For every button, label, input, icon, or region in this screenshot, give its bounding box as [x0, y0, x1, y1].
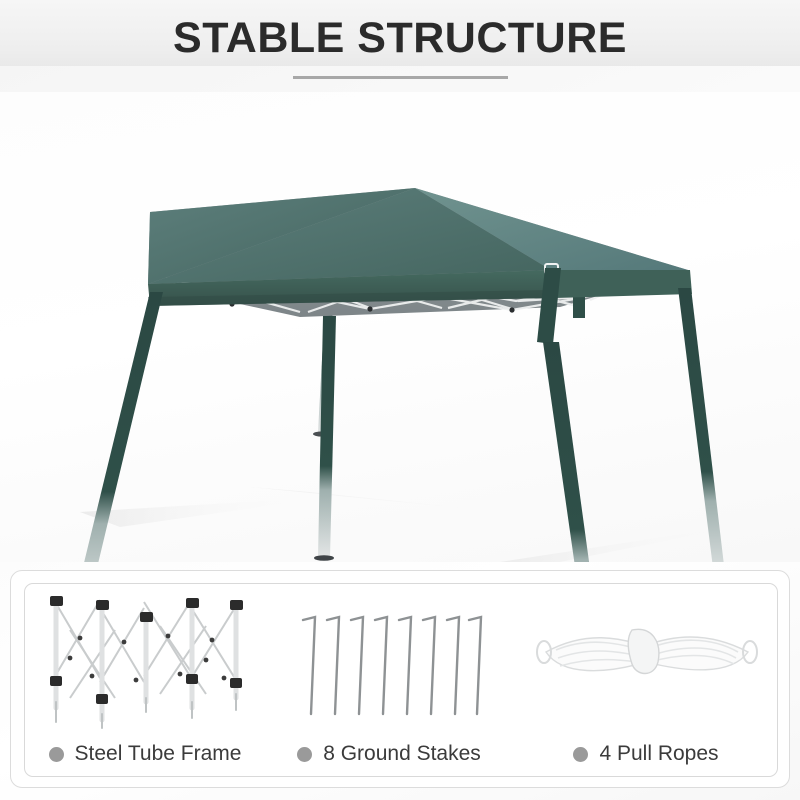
bullet-dot-icon — [49, 747, 64, 762]
accessories-list: Steel Tube Frame — [25, 584, 779, 778]
accessories-card: Steel Tube Frame — [10, 570, 790, 788]
pull-ropes-icon — [519, 590, 773, 730]
canopy-hero-illustration — [0, 92, 800, 562]
accessory-label-steel-tube-frame: Steel Tube Frame — [31, 742, 259, 766]
leg-rear-left — [314, 316, 336, 561]
product-feature-image: STABLE STRUCTURE — [0, 0, 800, 800]
bullet-dot-icon — [297, 747, 312, 762]
rope-bundle — [537, 629, 757, 673]
header: STABLE STRUCTURE — [0, 0, 800, 92]
ground-stakes-icon — [271, 590, 507, 730]
accessory-label-text: 8 Ground Stakes — [323, 742, 481, 766]
leg-front-right — [543, 342, 604, 562]
accessory-label-text: Steel Tube Frame — [75, 742, 242, 766]
bullet-dot-icon — [573, 747, 588, 762]
accessory-item-pull-ropes: 4 Pull Ropes — [519, 584, 773, 778]
accessories-inner-border: Steel Tube Frame — [24, 583, 778, 777]
page-title: STABLE STRUCTURE — [0, 14, 800, 62]
accessory-label-ground-stakes: 8 Ground Stakes — [271, 742, 507, 766]
accessory-item-steel-tube-frame: Steel Tube Frame — [31, 584, 259, 778]
leg-rear-right — [678, 288, 730, 562]
accessory-label-text: 4 Pull Ropes — [599, 742, 718, 766]
ground-shadows — [80, 487, 760, 562]
steel-tube-frame-icon — [31, 590, 259, 730]
accessory-item-ground-stakes: 8 Ground Stakes — [271, 584, 507, 778]
accessory-label-pull-ropes: 4 Pull Ropes — [519, 742, 773, 766]
title-divider-rule — [293, 76, 508, 79]
